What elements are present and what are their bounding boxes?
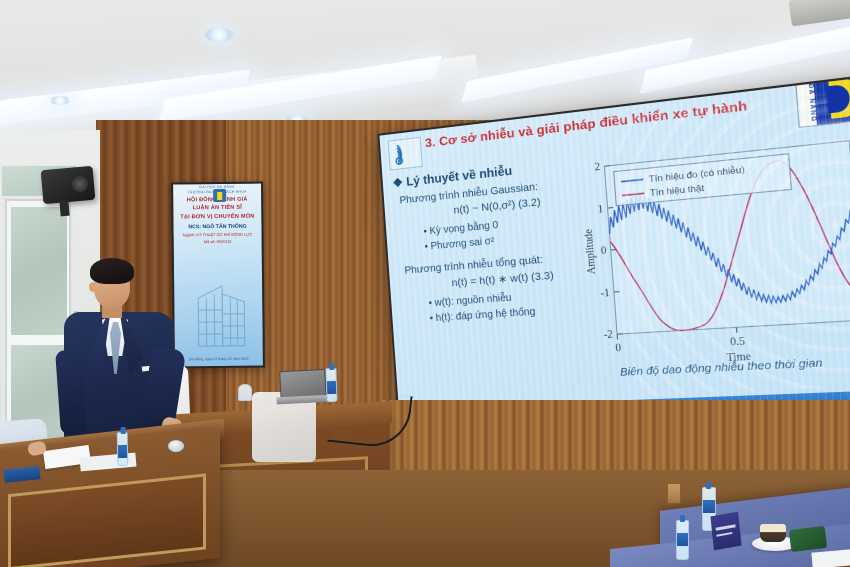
banner-candidate: NCS: NGÔ TẤN THỐNG <box>173 223 261 230</box>
front-desk-inlay-panel <box>8 473 206 567</box>
ear <box>89 282 96 292</box>
drinking-glass[interactable] <box>238 384 252 401</box>
eyeglasses <box>168 440 184 452</box>
xtick-0: 0 <box>615 342 621 354</box>
university-logo-icon <box>213 189 226 202</box>
bottle-label <box>703 500 715 513</box>
banner-major: Ngành: KỸ THUẬT CƠ KHÍ ĐỘNG LỰC <box>174 231 262 237</box>
dut-org-logo: ĐÀ NẴNG <box>795 74 850 128</box>
signal-wave-logo-icon <box>388 137 423 171</box>
banner-title-line3: TẠI ĐƠN VỊ CHUYÊN MÔN <box>173 213 261 220</box>
event-banner: ĐẠI HỌC ĐÀ NẴNG TRƯỜNG ĐẠI HỌC BÁCH KHOA… <box>171 182 265 369</box>
laptop-screen <box>279 369 326 398</box>
projector-mount <box>789 0 850 26</box>
downlight-icon <box>204 28 234 42</box>
banner-code: Mã số: 9520116 <box>174 238 262 244</box>
green-cloth-item <box>789 526 827 552</box>
xtick-05: 0.5 <box>730 336 746 349</box>
bottle-label <box>118 445 127 458</box>
ytick-neg2: -2 <box>603 329 613 341</box>
noise-amplitude-chart: 2 1 0 -1 -2 0 0.5 1 Time Amplitude Tín h… <box>574 133 850 370</box>
tea-cup[interactable] <box>760 524 786 542</box>
ytick-0: 0 <box>601 245 607 257</box>
ytick-neg1: -1 <box>600 287 610 300</box>
conference-room-scene: ĐẠI HỌC ĐÀ NẴNG TRƯỜNG ĐẠI HỌC BÁCH KHOA… <box>0 0 850 567</box>
banner-date: Đà Nẵng, ngày 07 tháng 02 năm 2025 <box>175 357 263 362</box>
paper-sheet[interactable] <box>811 549 850 567</box>
projection-screen: 3. Cơ sở nhiễu và giải pháp điều khiển x… <box>377 74 850 433</box>
wall-speaker <box>41 166 96 204</box>
banner-building-artwork <box>188 276 253 349</box>
banner-title-line2: LUẬN ÁN TIẾN SĨ <box>173 205 261 212</box>
ytick-2: 2 <box>594 161 600 173</box>
water-bottle[interactable] <box>117 432 129 466</box>
laptop[interactable] <box>275 369 333 406</box>
bottle-label <box>677 533 688 546</box>
water-bottle[interactable] <box>676 520 689 560</box>
name-card <box>710 512 741 551</box>
downlight-icon <box>50 96 70 105</box>
slide-body-text: Phương trình nhiễu Gaussian: n(t) ~ N(0,… <box>399 176 600 330</box>
laptop-keyboard[interactable] <box>277 395 333 405</box>
dut-logo-mark <box>813 74 850 125</box>
speaker-bracket <box>59 200 69 217</box>
ytick-1: 1 <box>597 204 603 216</box>
wall-outlet[interactable] <box>667 483 681 504</box>
chart-ylabel: Amplitude <box>583 228 599 275</box>
hair <box>90 258 134 284</box>
